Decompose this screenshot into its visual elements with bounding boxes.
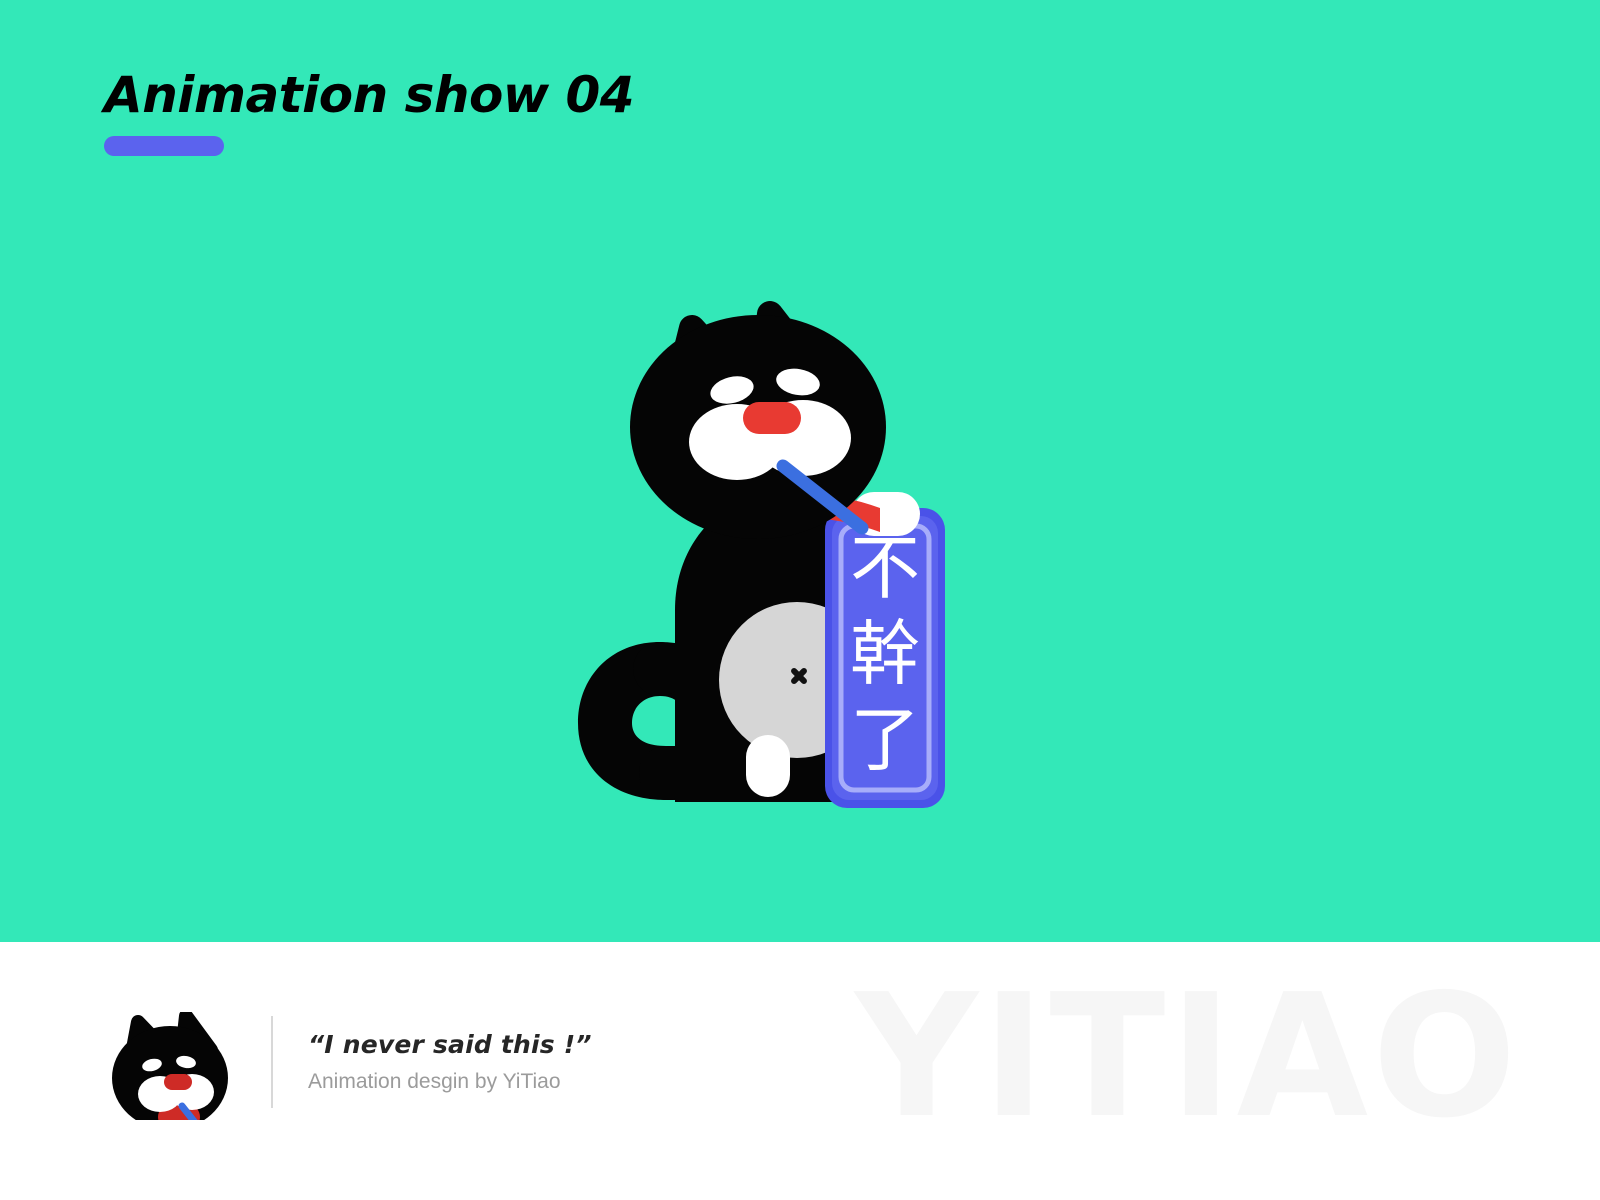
- footer-text-block: “I never said this !” Animation desgin b…: [308, 1028, 948, 1096]
- carton-characters: 不 幹 了: [850, 527, 920, 781]
- cat-muzzle: [689, 400, 851, 480]
- title-accent-bar: [104, 136, 224, 156]
- cat-foot: [746, 735, 790, 797]
- footer-cat-logo: [108, 1012, 232, 1120]
- carton-char-1: 不: [850, 527, 920, 609]
- title-block: Animation show 04: [104, 66, 804, 124]
- carton-char-3: 了: [850, 699, 920, 781]
- carton-char-2: 幹: [850, 613, 920, 695]
- footer-divider: [271, 1016, 273, 1108]
- cat-illustration: 不 幹 了: [470, 280, 1030, 840]
- footer-quote: “I never said this !”: [308, 1028, 948, 1062]
- footer-credit: Animation desgin by YiTiao: [308, 1068, 948, 1096]
- page-title: Animation show 04: [104, 66, 804, 124]
- hero-panel: Animation show 04: [0, 0, 1600, 942]
- watermark-yitiao: YITIAO: [855, 972, 1521, 1142]
- cat-nose: [743, 402, 801, 434]
- screenshot-root: Animation show 04: [0, 0, 1600, 1200]
